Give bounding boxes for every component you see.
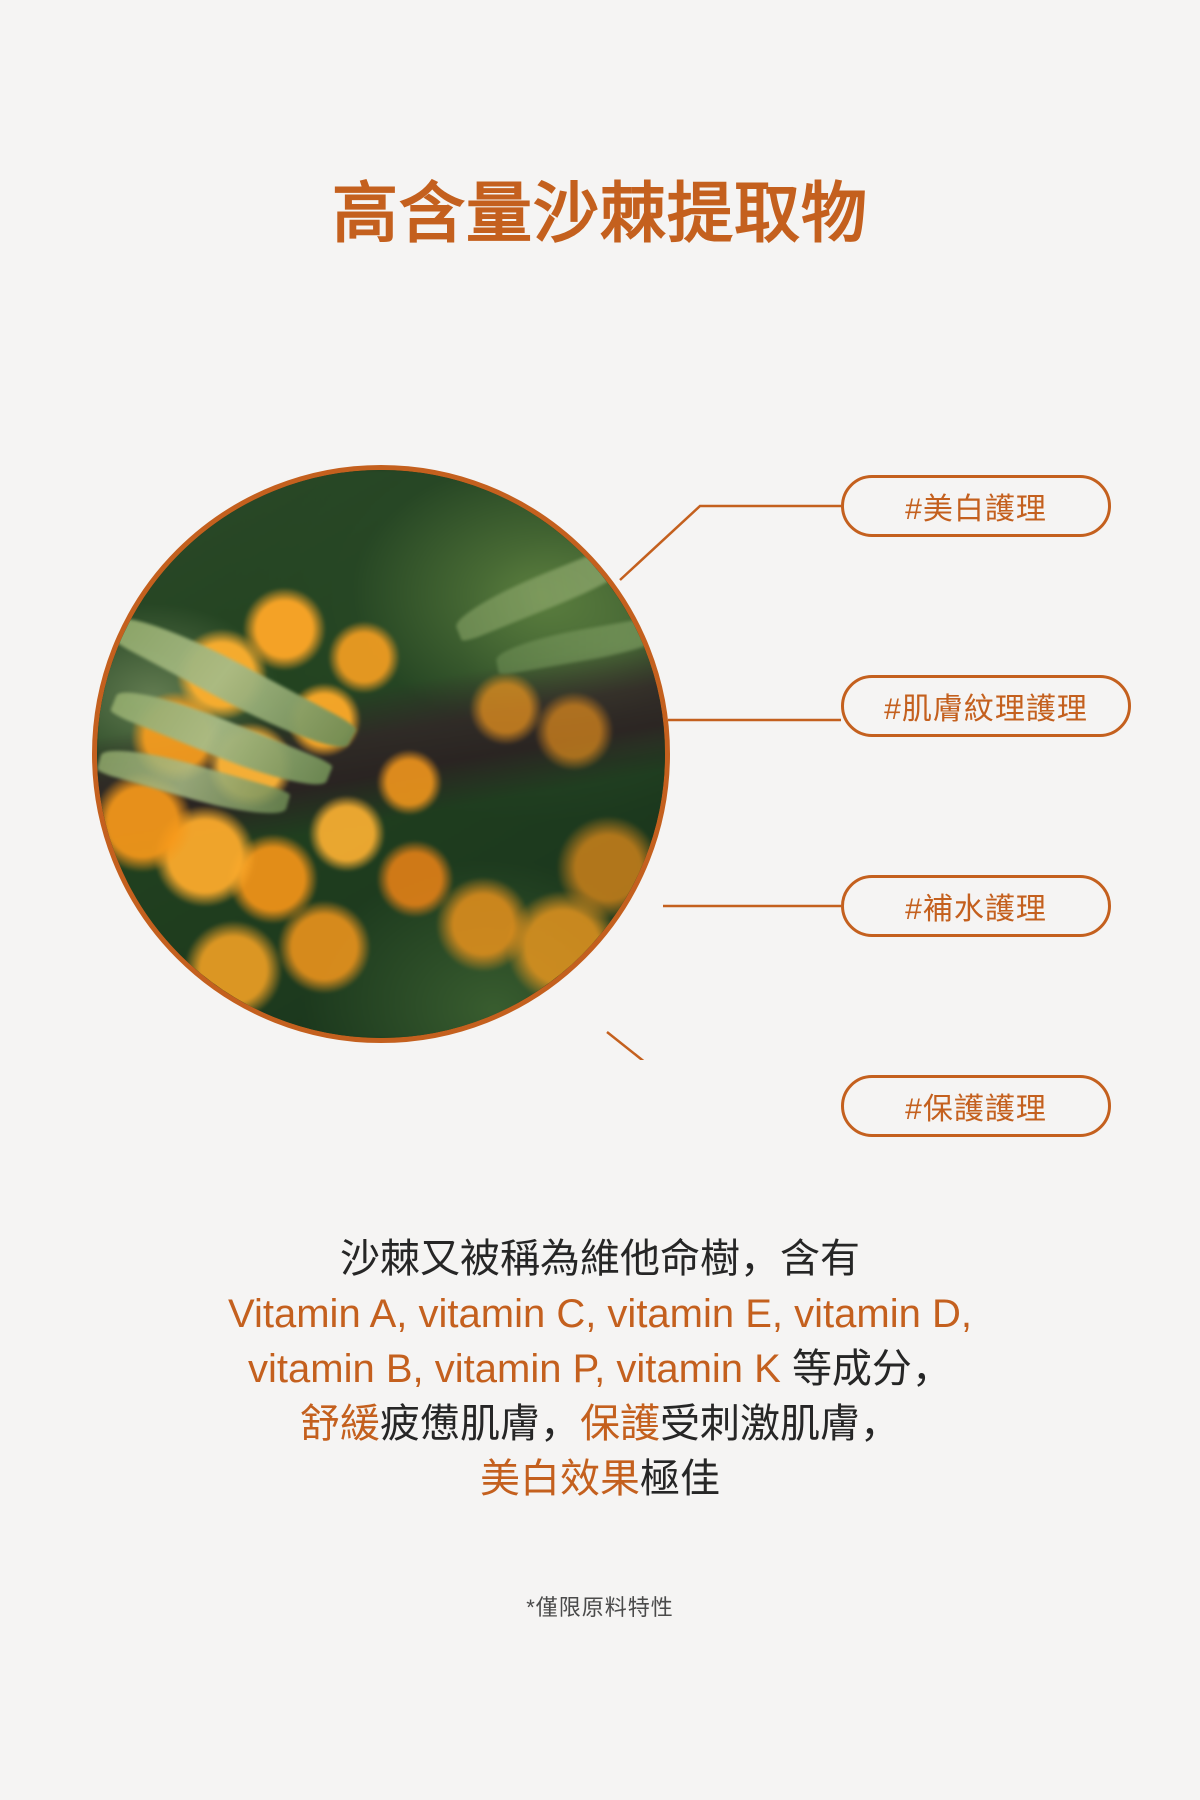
description-text-accent: 美白效果 bbox=[480, 1457, 640, 1501]
badge-label: #補水護理 bbox=[905, 884, 1047, 928]
description-text-accent: vitamin B, vitamin P, vitamin K bbox=[248, 1347, 792, 1391]
badge-hydration-care[interactable]: #補水護理 bbox=[841, 875, 1111, 937]
description-line-3: vitamin B, vitamin P, vitamin K 等成分， bbox=[0, 1342, 1200, 1397]
promo-page: 高含量沙棘提取物 #美白護理 #肌膚紋理護理 #補水護理 bbox=[0, 0, 1200, 1800]
description-text-accent: 舒緩 bbox=[300, 1402, 380, 1446]
photo-texture bbox=[97, 470, 665, 1038]
description-text-accent: Vitamin A, vitamin C, vitamin E, vitamin… bbox=[228, 1292, 972, 1336]
description-text: 等成分， bbox=[792, 1347, 952, 1391]
badge-skin-texture-care[interactable]: #肌膚紋理護理 bbox=[841, 675, 1131, 737]
description-text: 極佳 bbox=[640, 1457, 720, 1501]
hero-section: #美白護理 #肌膚紋理護理 #補水護理 #保護護理 bbox=[0, 420, 1200, 1060]
description-text-accent: 保護 bbox=[580, 1402, 660, 1446]
description-line-2: Vitamin A, vitamin C, vitamin E, vitamin… bbox=[0, 1287, 1200, 1342]
description-line-1: 沙棘又被稱為維他命樹，含有 bbox=[0, 1232, 1200, 1287]
description-text: 受刺激肌膚， bbox=[660, 1402, 900, 1446]
description-line-5: 美白效果極佳 bbox=[0, 1452, 1200, 1507]
description-text: 疲憊肌膚， bbox=[380, 1402, 580, 1446]
footnote: *僅限原料特性 bbox=[0, 1590, 1200, 1622]
sea-buckthorn-berries-photo bbox=[92, 465, 670, 1043]
description-text: 沙棘又被稱為維他命樹，含有 bbox=[340, 1237, 860, 1281]
page-title: 高含量沙棘提取物 bbox=[0, 176, 1200, 252]
badge-label: #保護護理 bbox=[905, 1084, 1047, 1128]
description-line-4: 舒緩疲憊肌膚，保護受刺激肌膚， bbox=[0, 1397, 1200, 1452]
badge-label: #肌膚紋理護理 bbox=[884, 684, 1088, 728]
badge-protection-care[interactable]: #保護護理 bbox=[841, 1075, 1111, 1137]
badge-label: #美白護理 bbox=[905, 484, 1047, 528]
badge-whitening-care[interactable]: #美白護理 bbox=[841, 475, 1111, 537]
description-block: 沙棘又被稱為維他命樹，含有 Vitamin A, vitamin C, vita… bbox=[0, 1232, 1200, 1507]
